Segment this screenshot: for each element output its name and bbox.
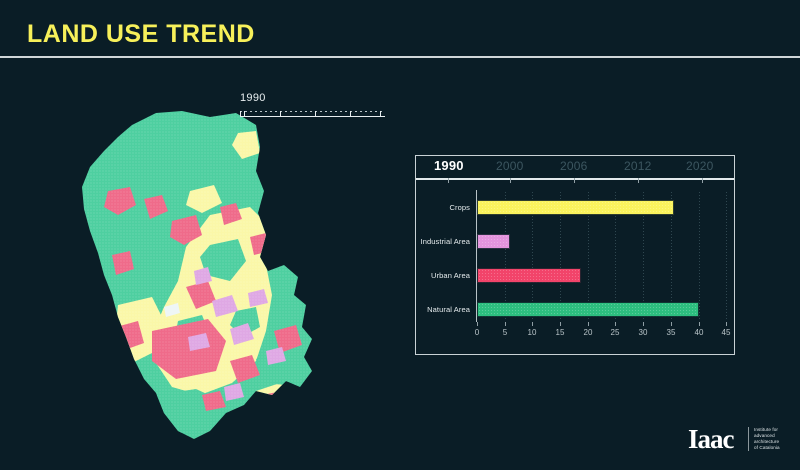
map-svg — [60, 95, 360, 465]
timeline-tick — [280, 111, 281, 117]
year-tab-1990[interactable]: 1990 — [434, 158, 464, 173]
x-tick — [477, 322, 478, 326]
timeline-dashed-line — [240, 111, 385, 112]
bar-crops[interactable] — [477, 200, 674, 215]
x-tick — [588, 322, 589, 326]
timeline-year-label: 1990 — [240, 92, 266, 104]
x-tick — [671, 322, 672, 326]
x-tick-label: 40 — [695, 328, 704, 337]
land-use-chart-panel: 1990 2000 2006 2012 2020 Crops Industria… — [415, 155, 735, 355]
land-use-map — [60, 95, 360, 465]
year-tab-2006[interactable]: 2006 — [560, 159, 588, 173]
bar-natural-area[interactable] — [477, 302, 699, 317]
year-tab-2020[interactable]: 2020 — [686, 159, 714, 173]
bar-industrial-area[interactable] — [477, 234, 510, 249]
map-timeline[interactable]: 1990 — [240, 92, 385, 124]
x-tick-label: 25 — [611, 328, 620, 337]
header-divider — [0, 56, 800, 58]
category-label-urban-area: Urban Area — [431, 271, 470, 280]
x-tick-label: 45 — [722, 328, 731, 337]
x-tick — [532, 322, 533, 326]
logo-tagline: Institute for advanced architecture of C… — [754, 427, 780, 451]
year-selector[interactable]: 1990 2000 2006 2012 2020 — [416, 156, 734, 180]
logo-divider — [748, 427, 749, 451]
x-tick — [560, 322, 561, 326]
logo-tagline-line: of Catalonia — [754, 445, 780, 451]
timeline-tick — [240, 111, 241, 117]
timeline-tick — [380, 111, 381, 117]
logo-wordmark: Iaac — [688, 424, 734, 454]
timeline-tick — [244, 111, 245, 117]
year-tab-2000[interactable]: 2000 — [496, 159, 524, 173]
x-tick — [726, 322, 727, 326]
x-tick-label: 30 — [639, 328, 648, 337]
timeline-tick — [350, 111, 351, 117]
x-tick — [505, 322, 506, 326]
x-tick-label: 15 — [556, 328, 565, 337]
gridline — [726, 192, 727, 320]
x-tick — [615, 322, 616, 326]
x-tick-label: 10 — [528, 328, 537, 337]
bar-chart-plot: Crops Industrial Area Urban Area Natural… — [416, 182, 734, 354]
iaac-logo: Iaac Institute for advanced architecture… — [688, 424, 788, 456]
gridline — [699, 192, 700, 320]
timeline-tick — [315, 111, 316, 117]
x-tick-label: 20 — [584, 328, 593, 337]
year-tab-2012[interactable]: 2012 — [624, 159, 652, 173]
category-label-industrial-area: Industrial Area — [421, 237, 470, 246]
x-tick — [699, 322, 700, 326]
bar-urban-area[interactable] — [477, 268, 581, 283]
x-tick-label: 0 — [475, 328, 479, 337]
page-header: LAND USE TREND — [0, 0, 800, 57]
x-tick — [643, 322, 644, 326]
page-title: LAND USE TREND — [27, 20, 255, 49]
category-label-natural-area: Natural Area — [427, 305, 470, 314]
x-tick-label: 35 — [667, 328, 676, 337]
map-landuse-layers — [60, 95, 360, 465]
timeline-axis-line — [240, 116, 385, 117]
category-label-crops: Crops — [449, 203, 470, 212]
x-tick-label: 5 — [503, 328, 507, 337]
